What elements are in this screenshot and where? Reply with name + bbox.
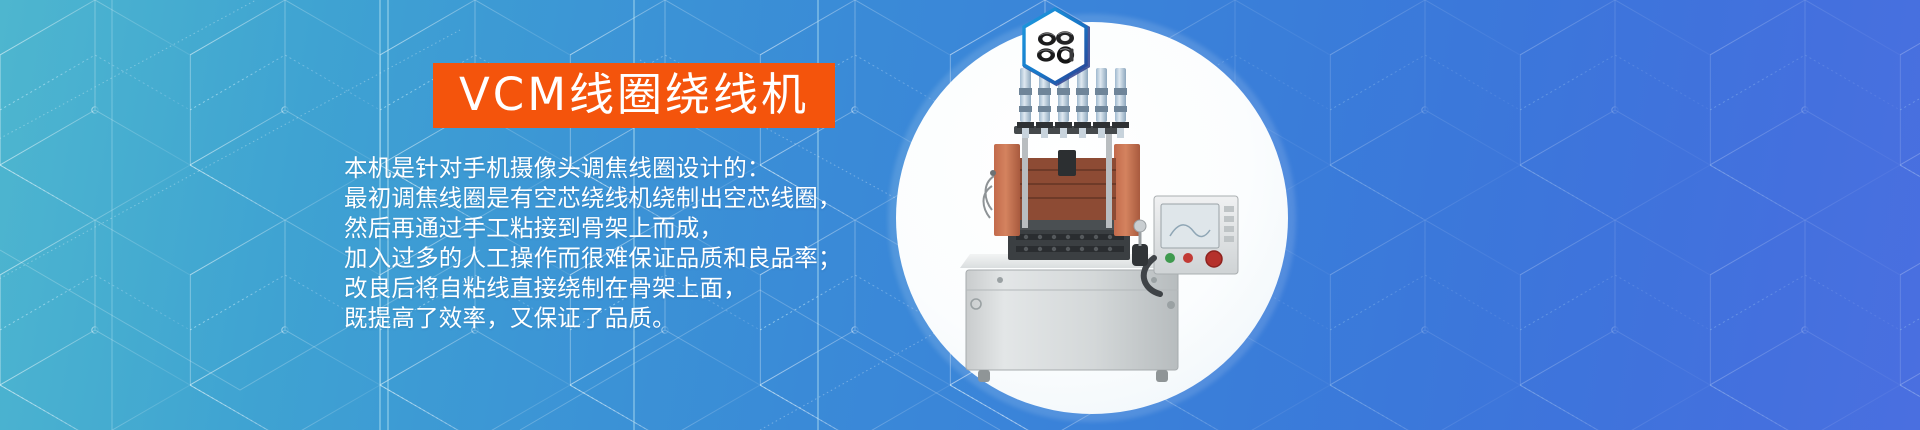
description-line: 改良后将自粘线直接绕制在骨架上面， bbox=[344, 273, 944, 303]
page-title: VCM线圈绕线机 bbox=[459, 72, 809, 117]
description-line: 本机是针对手机摄像头调焦线圈设计的： bbox=[344, 153, 944, 183]
product-photo bbox=[908, 58, 1258, 388]
title-badge: VCM线圈绕线机 bbox=[433, 63, 835, 128]
description-line: 然后再通过手工粘接到骨架上而成， bbox=[344, 213, 944, 243]
description-line: 最初调焦线圈是有空芯绕线机绕制出空芯线圈， bbox=[344, 183, 944, 213]
description-line: 加入过多的人工操作而很难保证品质和良品率； bbox=[344, 243, 944, 273]
text-column: VCM线圈绕线机 本机是针对手机摄像头调焦线圈设计的： 最初调焦线圈是有空芯绕线… bbox=[0, 0, 960, 430]
coil-samples-badge bbox=[1019, 6, 1091, 88]
description-block: 本机是针对手机摄像头调焦线圈设计的： 最初调焦线圈是有空芯绕线机绕制出空芯线圈，… bbox=[344, 153, 944, 333]
product-visual bbox=[880, 0, 1920, 430]
description-line: 既提高了效率，又保证了品质。 bbox=[344, 303, 944, 333]
promo-banner: VCM线圈绕线机 本机是针对手机摄像头调焦线圈设计的： 最初调焦线圈是有空芯绕线… bbox=[0, 0, 1920, 430]
